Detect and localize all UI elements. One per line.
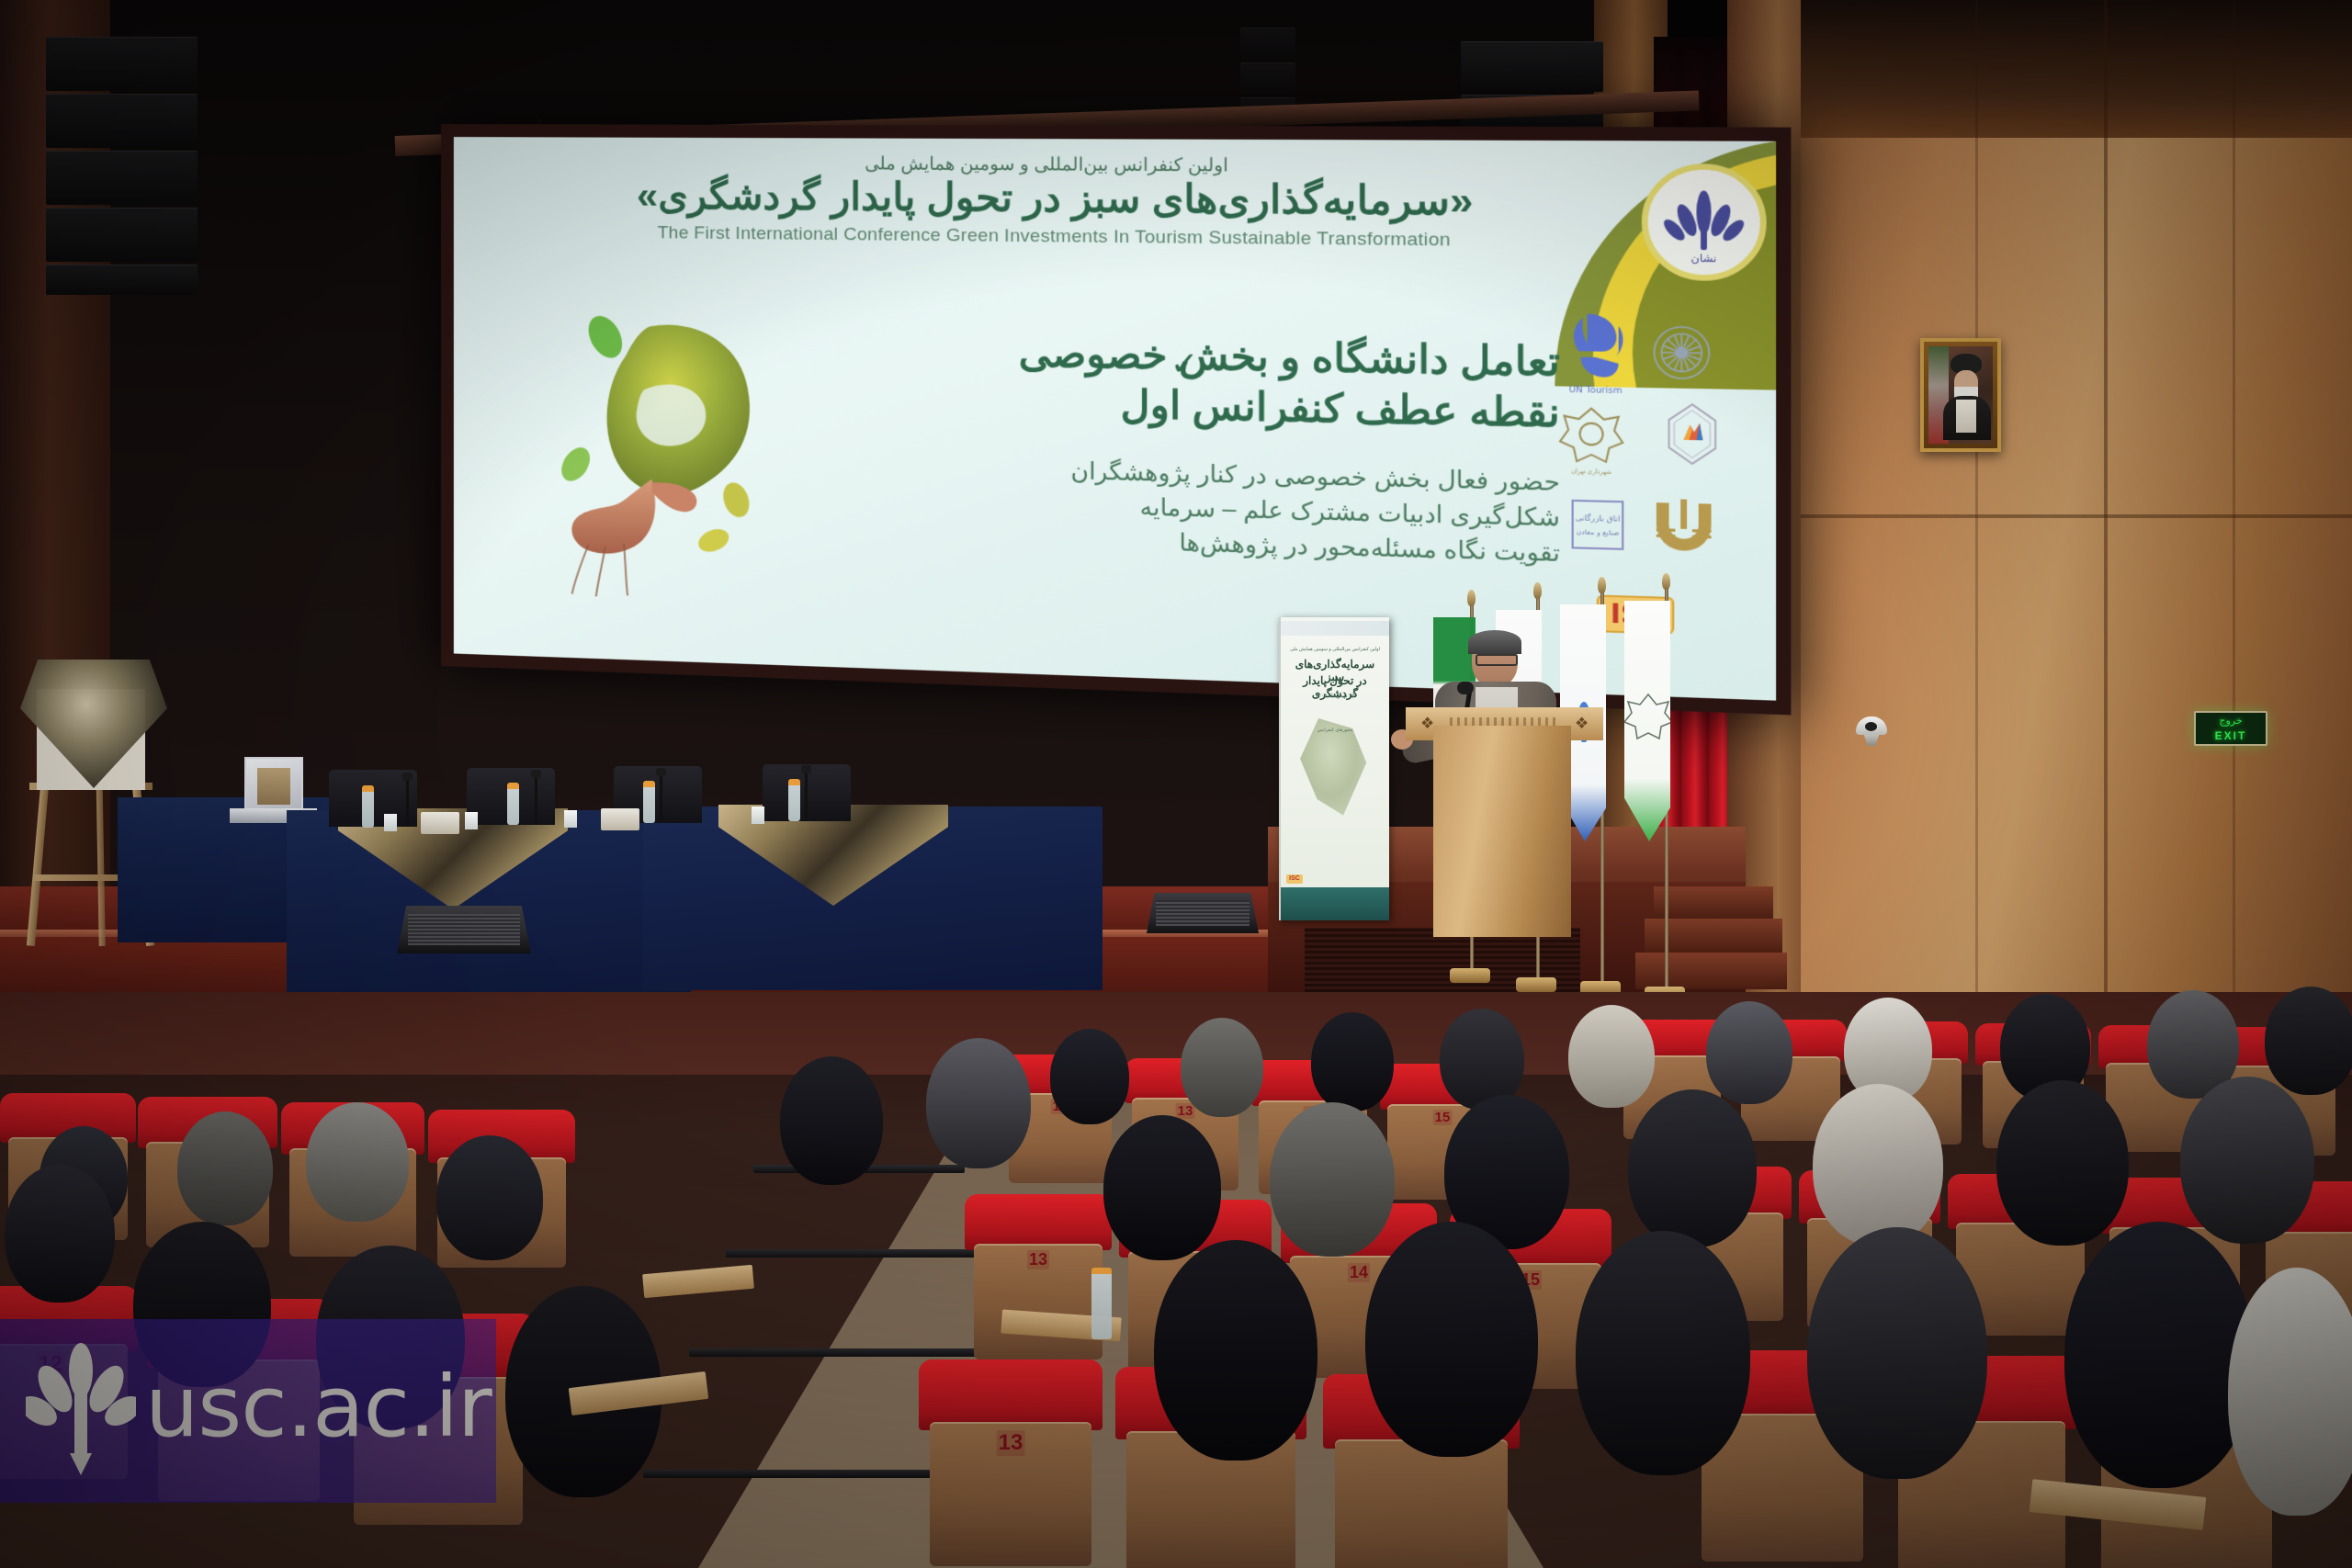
camera-lens-icon [1865,722,1877,731]
water-bottle [507,783,519,825]
seat-number: 13 [997,1430,1025,1456]
audience-member [1351,1222,1553,1506]
stage-step-1 [1654,886,1773,919]
audience-water-bottle [1091,1268,1112,1339]
wall-seam [2233,0,2235,1084]
tehran-municipality-logo [1560,408,1623,462]
auditorium-scene: نشان اولین کنفرانس بین‌المللی و سومین هم… [0,0,2352,1568]
audience-member [919,1038,1038,1194]
conference-rollup-banner: اولین کنفرانس بین‌المللی و سومین همایش م… [1279,617,1389,920]
table-microphone [406,779,409,827]
aisle-step [726,1249,992,1258]
audience-member [300,1102,415,1240]
paper-cup [384,814,397,831]
svg-text:UN Tourism: UN Tourism [1569,386,1623,397]
paper-cup [752,807,764,824]
paper-cup [564,810,577,828]
audience-member [0,1165,119,1330]
university-flag-3 [1624,601,1670,841]
speaker-glasses [1476,654,1518,666]
banner-date: ۲۵ بهمن‌ماه ۱۴۰۴ [1284,693,1385,699]
award-plaque [244,757,303,816]
ministry-rosette-logo [1655,327,1710,379]
banner-isc-logo: ISC [1286,874,1303,884]
stage-monitor-right [1147,893,1259,933]
wall-seam [1801,514,2352,518]
exit-sign-en-label: EXIT [2196,729,2266,742]
slide-tree-map-artwork [540,299,821,613]
slide-subtitle: The First International Conference Green… [454,221,1680,254]
un-tourism-logo [1574,313,1623,377]
slide-title: «سرمایه‌گذاری‌های سبز در تحول پایدار گرد… [454,172,1680,226]
line-array-speaker-left [46,37,198,294]
podium-emblem-left: ❖ [1420,715,1434,733]
stage-step-3 [1635,953,1787,989]
audience-member [1562,1231,1764,1525]
slide-heading-line-1: تعامل دانشگاه و بخش خصوصی [1019,329,1560,388]
exit-sign-fa-label: خروج [2196,715,2266,727]
svg-text:صنایع و معادن: صنایع و معادن [1577,528,1620,537]
cultural-heritage-logo [1669,404,1716,465]
table-microphone [660,774,662,822]
audience-member [1139,1240,1332,1506]
banner-kicker: اولین کنفرانس بین‌المللی و سومین همایش م… [1284,647,1385,652]
svg-text:نشان: نشان [1691,252,1717,265]
university-seal-logo [1657,499,1712,552]
slide-heading-line-2: نقطه عطف کنفرانس اول [1120,380,1560,438]
banner-section-label: محورهای کنفرانس [1284,728,1385,733]
wall-seam [2104,0,2108,1084]
water-bottle [643,781,655,823]
svg-text:اتاق بازرگانی: اتاق بازرگانی [1575,513,1620,524]
right-wood-wall [1801,0,2352,1084]
exit-sign: خروج EXIT [2194,711,2267,746]
svg-text:شهرداری تهران: شهرداری تهران [1571,468,1611,477]
seat-number: 13 [1027,1250,1049,1269]
microphone-head [1457,682,1474,694]
watermark-text: usc.ac.ir [145,1358,492,1456]
tissue-box [421,812,459,834]
water-bottle [362,785,374,828]
audience-member [2223,1268,2352,1562]
podium-emblem-right: ❖ [1575,715,1589,733]
water-bottle [788,779,800,821]
stage-monitor-left [397,906,531,953]
tissue-box [601,808,639,830]
usc-logo-icon [26,1343,136,1479]
table-microphone [535,776,537,824]
wall-seam [1975,0,1978,1084]
audience-member [772,1056,891,1213]
chamber-of-commerce-logo: اتاق بازرگانی صنایع و معادن [1573,501,1623,549]
banner-map-graphic [1295,718,1373,819]
paper-cup [465,812,478,829]
site-watermark: usc.ac.ir [0,1319,496,1503]
audience-member [171,1111,279,1240]
right-wall-upper-shadow [1801,0,2352,138]
table-microphone [805,772,808,819]
seat[interactable]: 13 [919,1359,1102,1566]
wall-portrait-frame [1920,338,2001,452]
podium-lectern [1433,726,1571,937]
audience-member [1792,1227,2003,1530]
audience-member [496,1286,671,1543]
speaker-hair [1468,630,1521,654]
